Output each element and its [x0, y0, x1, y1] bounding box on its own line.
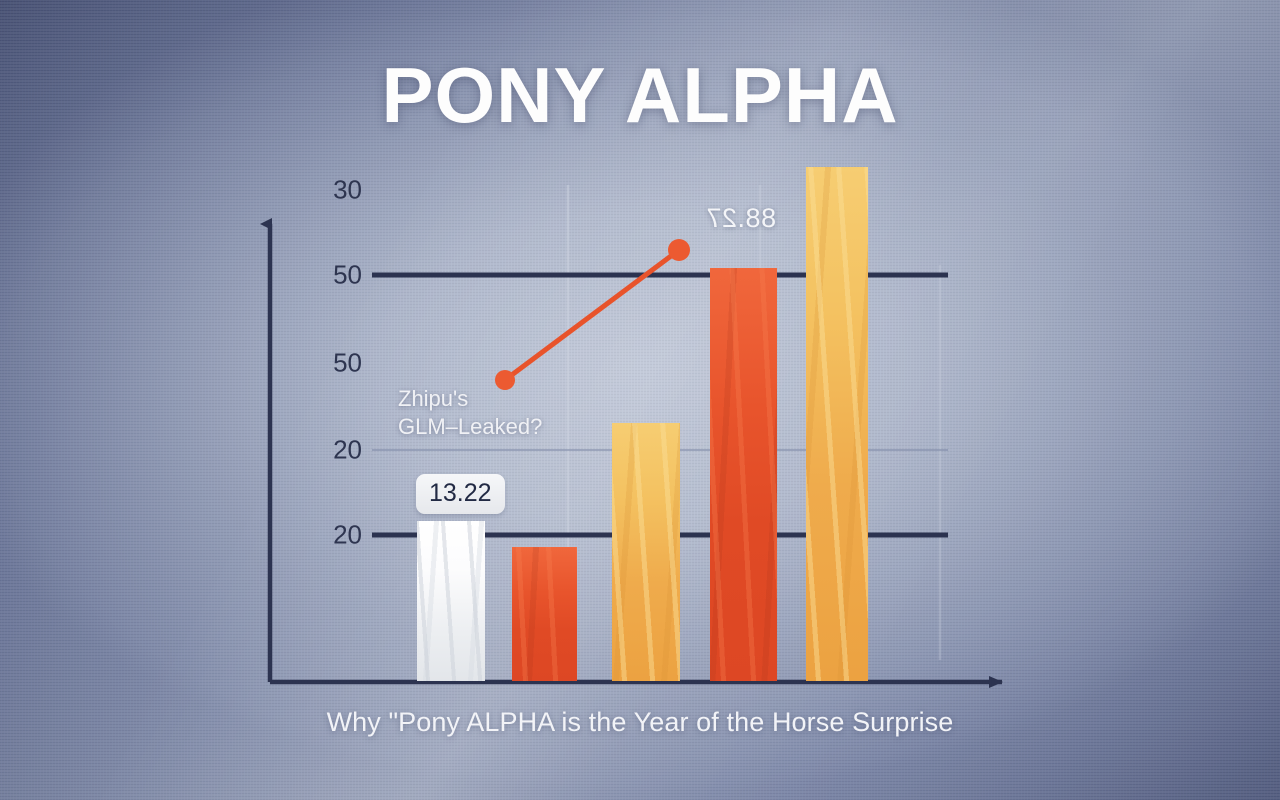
annotation-line-1: Zhipu's: [398, 385, 542, 413]
trend-line-overlay: [0, 0, 1280, 800]
annotation-zhipu: Zhipu's GLM–Leaked?: [398, 385, 542, 440]
value-badge-13-22: 13.22: [416, 474, 505, 514]
annotation-line-2: GLM–Leaked?: [398, 413, 542, 441]
mirrored-value-label: 88.27: [706, 203, 776, 234]
trend-line-segment: [505, 250, 679, 380]
poster-canvas: PONY ALPHA: [0, 0, 1280, 800]
trend-point-end: [668, 239, 690, 261]
chart-area: 30 50 50 20 20 Zhipu's GLM–Leaked? 13.22…: [0, 0, 1280, 800]
page-caption: Why "Pony ALPHA is the Year of the Horse…: [0, 707, 1280, 738]
